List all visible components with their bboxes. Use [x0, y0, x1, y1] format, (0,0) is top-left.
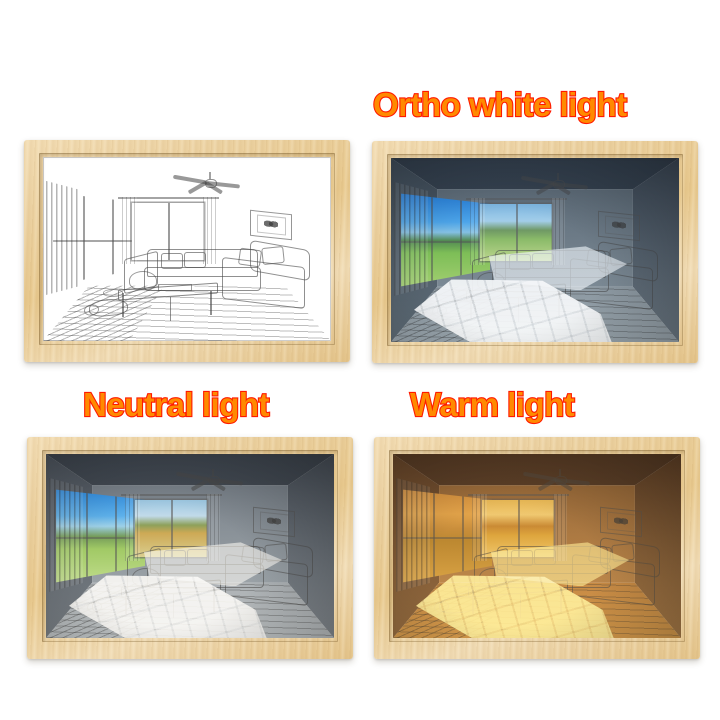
coffee-table-leg	[213, 588, 215, 612]
throw-pillow	[611, 543, 635, 562]
framed-butterfly-art	[598, 211, 640, 241]
butterfly-icon	[615, 516, 629, 528]
fan-light-kit	[555, 476, 567, 486]
curtain-left	[125, 494, 139, 560]
throw-pillow	[509, 254, 531, 271]
throw-pillow	[534, 549, 556, 566]
framed-butterfly-art	[600, 507, 642, 537]
label-warm-light: Warm light	[410, 388, 574, 421]
throw-pillow	[164, 550, 186, 567]
butterfly-icon	[265, 219, 279, 231]
door-mullion	[83, 186, 85, 289]
door-mullion	[115, 483, 117, 586]
throw-pillow	[586, 249, 610, 269]
curtain-left	[470, 198, 484, 264]
vertical-blinds	[394, 182, 429, 296]
framed-butterfly-art	[250, 210, 292, 240]
fan-downrod	[559, 469, 561, 476]
door-mullion	[460, 187, 462, 290]
ceiling-fan	[518, 173, 593, 191]
picture-frame-unlit	[24, 140, 350, 362]
living-room-scene	[43, 157, 331, 341]
throw-pillow	[161, 253, 183, 270]
fan-light-kit	[208, 476, 220, 486]
fan-downrod	[209, 172, 211, 179]
butterfly-icon	[613, 220, 627, 232]
coffee-table-leg	[210, 291, 212, 315]
picture-frame-warm	[374, 437, 700, 659]
throw-pillow	[609, 247, 633, 266]
books-on-table	[158, 284, 192, 292]
throw-pillow	[511, 550, 533, 567]
books-on-table	[508, 581, 542, 589]
label-ortho-white-light: Ortho white light	[373, 88, 627, 121]
dog-bowl	[453, 586, 472, 594]
throw-pillow	[532, 253, 554, 270]
coffee-table-leg	[560, 588, 562, 612]
books-on-table	[506, 285, 540, 293]
fan-downrod	[557, 173, 559, 180]
picture-frame-neutral	[27, 437, 353, 659]
fan-downrod	[212, 469, 214, 476]
throw-pillow	[588, 545, 612, 565]
living-room-scene	[46, 454, 334, 638]
vertical-blinds	[49, 478, 84, 592]
coffee-table-leg	[520, 594, 522, 618]
dog-bowl	[451, 290, 470, 298]
throw-pillow	[187, 549, 209, 566]
throw-pillow	[241, 545, 265, 565]
coffee-table-leg	[558, 292, 560, 316]
coffee-table-leg	[170, 297, 172, 321]
living-room-scene	[393, 454, 681, 638]
coffee-table-leg	[173, 594, 175, 618]
vertical-blinds	[46, 181, 81, 295]
curtain-left	[122, 197, 136, 263]
product-image-canvas: Ortho white light Neutral light Warm lig…	[0, 0, 720, 720]
throw-pillow	[238, 248, 262, 268]
fan-light-kit	[553, 180, 565, 190]
door-mullion	[112, 186, 114, 289]
fan-light-kit	[205, 179, 217, 189]
vertical-blinds	[396, 478, 431, 592]
ceiling-fan	[170, 172, 245, 190]
coffee-table-leg	[518, 298, 520, 322]
framed-butterfly-art	[253, 507, 295, 537]
books-on-table	[161, 581, 195, 589]
art-panel-unlit	[43, 157, 331, 341]
throw-pillow	[264, 543, 288, 562]
dog-bowl	[106, 586, 125, 594]
butterfly-icon	[268, 516, 282, 528]
art-panel-warm	[393, 454, 681, 638]
door-mullion	[431, 187, 433, 290]
picture-frame-ortho-white	[372, 141, 698, 363]
label-neutral-light: Neutral light	[83, 388, 269, 421]
living-room-scene	[391, 158, 679, 342]
art-panel-ortho-white	[391, 158, 679, 342]
curtain-left	[472, 494, 486, 560]
art-panel-neutral	[46, 454, 334, 638]
ceiling-fan	[173, 469, 248, 487]
throw-pillow	[261, 246, 285, 265]
throw-pillow	[184, 252, 206, 269]
dog-bowl	[103, 289, 122, 297]
door-mullion	[86, 483, 88, 586]
door-mullion	[462, 483, 464, 586]
ceiling-fan	[520, 469, 595, 487]
door-mullion	[433, 483, 435, 586]
